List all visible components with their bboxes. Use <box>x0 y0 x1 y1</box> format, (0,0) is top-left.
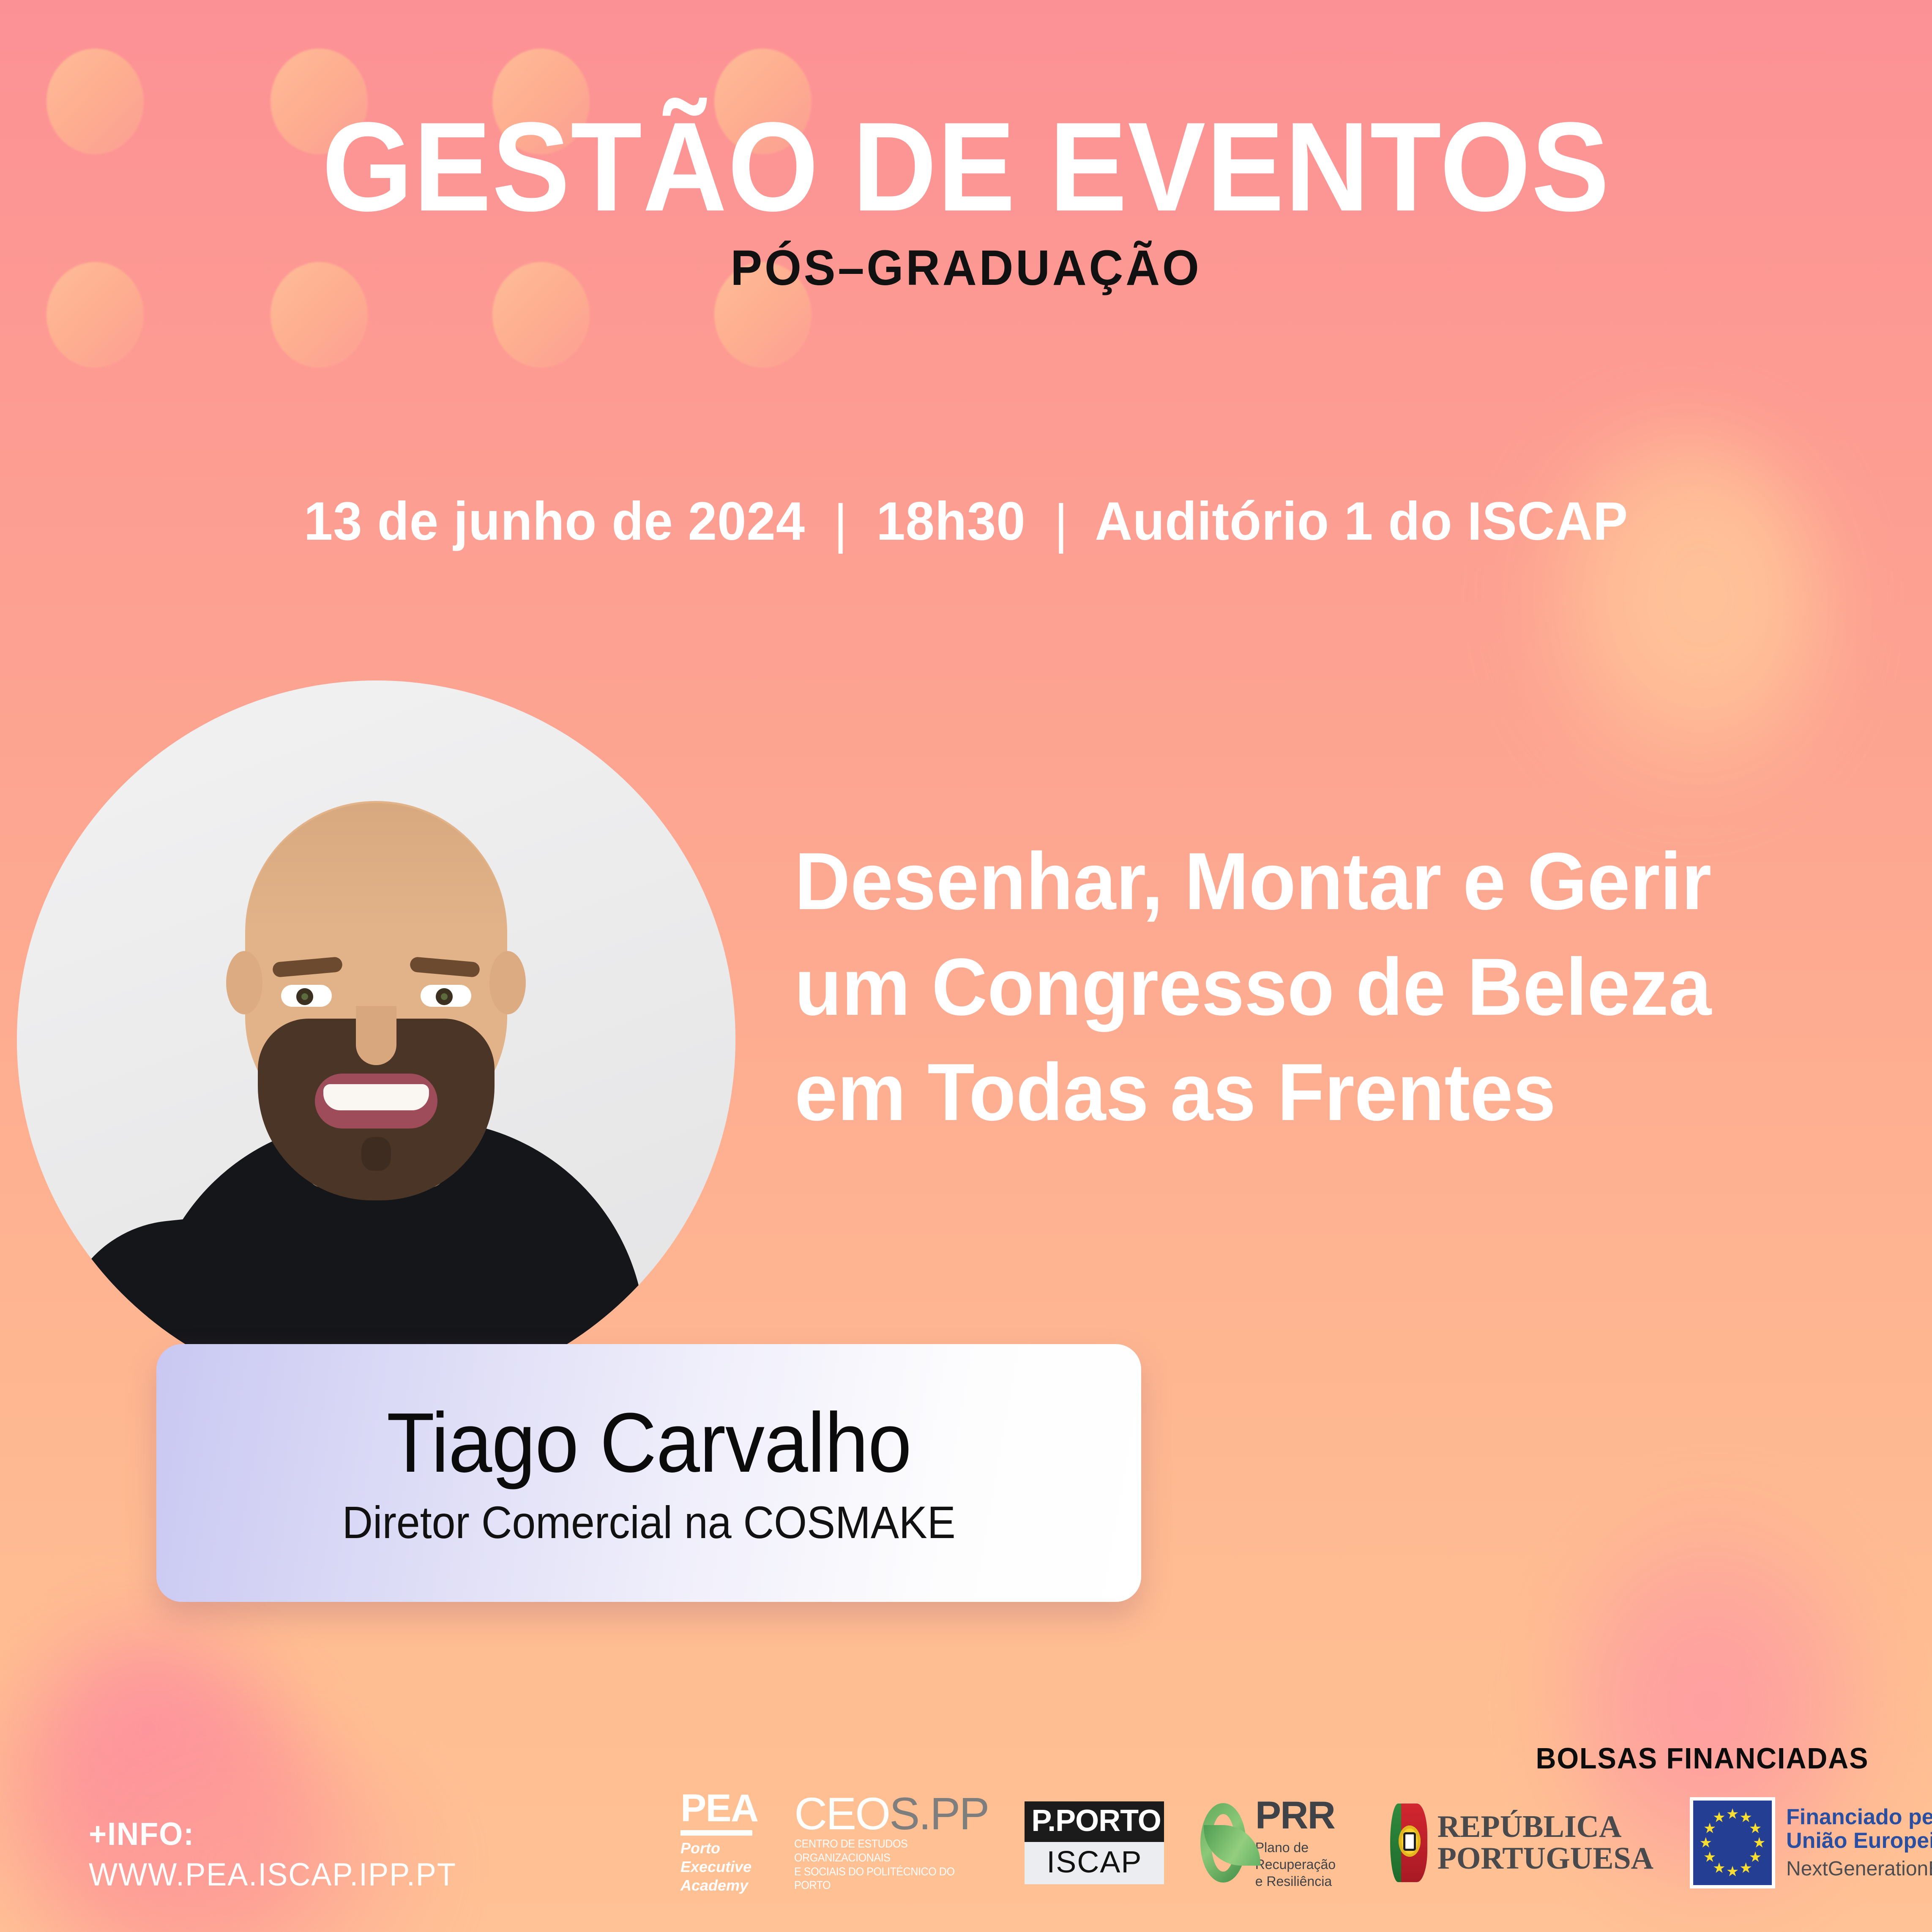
page-subtitle: PÓS–GRADUAÇÃO <box>48 239 1883 297</box>
prr-text: PRR Plano de Recuperação e Resiliência <box>1255 1796 1354 1890</box>
talk-title-line-2: um Congresso de Beleza <box>795 934 1831 1040</box>
speaker-name: Tiago Carvalho <box>386 1401 911 1485</box>
avatar <box>17 680 735 1399</box>
page-title: GESTÃO DE EVENTOS <box>77 106 1855 227</box>
european-union-logo: ★ ★ ★ ★ ★ ★ ★ ★ ★ ★ ★ ★ Financiado pela … <box>1690 1797 1932 1888</box>
event-date: 13 de junho de 2024 <box>304 491 805 552</box>
ceos-tagline: CENTRO DE ESTUDOS ORGANIZACIONAIS E SOCI… <box>794 1837 975 1893</box>
ceos-tagline-line-2: E SOCIAIS DO POLITÉCNICO DO PORTO <box>794 1865 975 1893</box>
pporto-iscap-logo: P.PORTO ISCAP <box>1025 1801 1164 1884</box>
talk-title: Desenhar, Montar e Gerir um Congresso de… <box>795 828 1831 1145</box>
photo-teeth <box>323 1084 429 1110</box>
prr-wordmark: PRR <box>1255 1796 1354 1835</box>
ceos-wordmark-gray: S.PP <box>889 1793 988 1834</box>
event-meta: 13 de junho de 2024 | 18h30 | Auditório … <box>38 490 1893 552</box>
speaker-card: Tiago Carvalho Diretor Comercial na COSM… <box>156 1344 1141 1602</box>
republica-portuguesa-logo: REPÚBLICA PORTUGUESA <box>1390 1804 1653 1882</box>
photo-ear-right <box>489 951 526 1014</box>
prr-logo: PRR Plano de Recuperação e Resiliência <box>1200 1796 1353 1890</box>
portugal-flag-icon <box>1390 1804 1427 1882</box>
eu-text: Financiado pela União Europeia NextGener… <box>1786 1806 1932 1880</box>
talk-title-line-3: em Todas as Frentes <box>795 1039 1831 1145</box>
speaker-role: Diretor Comercial na COSMAKE <box>342 1500 955 1545</box>
eu-line-1: Financiado pela <box>1786 1806 1932 1829</box>
eu-line-2: União Europeia <box>1786 1829 1932 1853</box>
decor-blob-top-right <box>1522 423 1826 803</box>
eu-flag-icon: ★ ★ ★ ★ ★ ★ ★ ★ ★ ★ ★ ★ <box>1690 1797 1775 1888</box>
pea-tagline-line-2: Executive <box>680 1858 751 1876</box>
poster-header: GESTÃO DE EVENTOS PÓS–GRADUAÇÃO <box>0 106 1932 297</box>
event-poster: GESTÃO DE EVENTOS PÓS–GRADUAÇÃO 13 de ju… <box>0 0 1932 1932</box>
info-block: +INFO: WWW.PEA.ISCAP.IPP.PT <box>89 1817 476 1892</box>
iscap-wordmark: ISCAP <box>1025 1842 1164 1884</box>
event-time: 18h30 <box>876 491 1025 552</box>
pea-wordmark: PEA <box>680 1791 758 1826</box>
pea-tagline-line-3: Academy <box>680 1876 751 1895</box>
ceos-wordmark-white: CEO <box>794 1793 889 1834</box>
photo-nose <box>356 1006 396 1065</box>
prr-tagline-line-2: e Resiliência <box>1255 1873 1354 1890</box>
eu-line-3: NextGenerationEU <box>1786 1858 1932 1880</box>
pea-tagline: Porto Executive Academy <box>680 1839 751 1895</box>
logo-strip: PEA Porto Executive Academy CEO S.PP CEN… <box>680 1796 1932 1889</box>
info-label: +INFO: <box>89 1817 456 1851</box>
funding-note: BOLSAS FINANCIADAS <box>1536 1741 1869 1775</box>
photo-chin <box>361 1137 391 1171</box>
ceos-pp-logo: CEO S.PP CENTRO DE ESTUDOS ORGANIZACIONA… <box>794 1793 988 1893</box>
event-venue: Auditório 1 do ISCAP <box>1095 491 1628 552</box>
prr-leaf-icon <box>1200 1803 1246 1883</box>
pea-logo: PEA Porto Executive Academy <box>680 1791 758 1895</box>
pea-rule <box>680 1830 752 1836</box>
ceos-tagline-line-1: CENTRO DE ESTUDOS ORGANIZACIONAIS <box>794 1837 975 1865</box>
pea-tagline-line-1: Porto <box>680 1839 751 1858</box>
republica-line-1: REPÚBLICA <box>1437 1811 1653 1843</box>
meta-separator: | <box>834 493 848 555</box>
prr-tagline: Plano de Recuperação e Resiliência <box>1255 1839 1354 1890</box>
speaker-photo-wrap <box>17 680 735 1399</box>
republica-line-2: PORTUGUESA <box>1437 1843 1653 1875</box>
meta-separator: | <box>1054 493 1068 555</box>
photo-eye-left <box>281 985 332 1007</box>
photo-eye-right <box>421 985 471 1007</box>
info-url[interactable]: WWW.PEA.ISCAP.IPP.PT <box>89 1858 456 1892</box>
photo-ear-left <box>226 951 262 1014</box>
ceos-wordmark: CEO S.PP <box>794 1793 988 1834</box>
talk-title-line-1: Desenhar, Montar e Gerir <box>795 828 1831 934</box>
pporto-wordmark: P.PORTO <box>1025 1801 1164 1842</box>
republica-text: REPÚBLICA PORTUGUESA <box>1437 1811 1653 1875</box>
prr-tagline-line-1: Plano de Recuperação <box>1255 1839 1354 1873</box>
